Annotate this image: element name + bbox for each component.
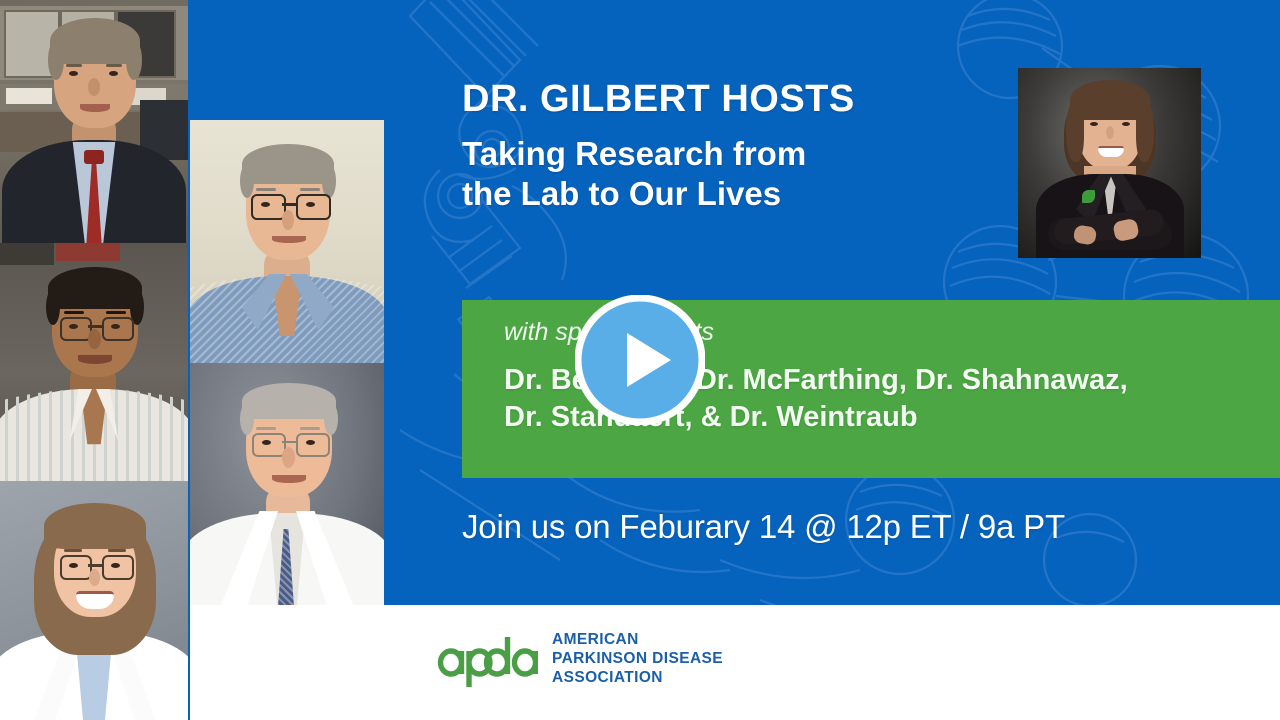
- lapel-pin-icon: [1082, 190, 1095, 203]
- org-line-1: AMERICAN: [552, 630, 723, 649]
- subtitle-line-1: Taking Research from: [462, 134, 1002, 174]
- apda-logo-text: AMERICAN PARKINSON DISEASE ASSOCIATION: [552, 630, 723, 687]
- participant-tile-4: [190, 120, 384, 363]
- apda-wordmark-icon: [430, 627, 538, 689]
- play-button[interactable]: [575, 295, 705, 425]
- event-datetime: Join us on Feburary 14 @ 12p ET / 9a PT: [462, 508, 1065, 546]
- participant-tile-2: [0, 243, 188, 481]
- subtitle-line-2: the Lab to Our Lives: [462, 174, 1002, 214]
- participant-tile-3: [0, 481, 188, 720]
- org-line-2: PARKINSON DISEASE: [552, 649, 723, 668]
- subtitle: Taking Research from the Lab to Our Live…: [462, 134, 1002, 214]
- video-player-frame: DR. GILBERT HOSTS Taking Research from t…: [0, 0, 1280, 720]
- play-icon[interactable]: [575, 295, 705, 425]
- host-portrait: [1018, 68, 1201, 258]
- page-title: DR. GILBERT HOSTS: [462, 76, 1002, 122]
- participant-tile-5: [190, 363, 384, 605]
- participant-tile-1: [0, 0, 188, 243]
- org-line-3: ASSOCIATION: [552, 668, 723, 687]
- footer-bar: AMERICAN PARKINSON DISEASE ASSOCIATION: [190, 605, 1280, 720]
- apda-logo: AMERICAN PARKINSON DISEASE ASSOCIATION: [430, 627, 723, 689]
